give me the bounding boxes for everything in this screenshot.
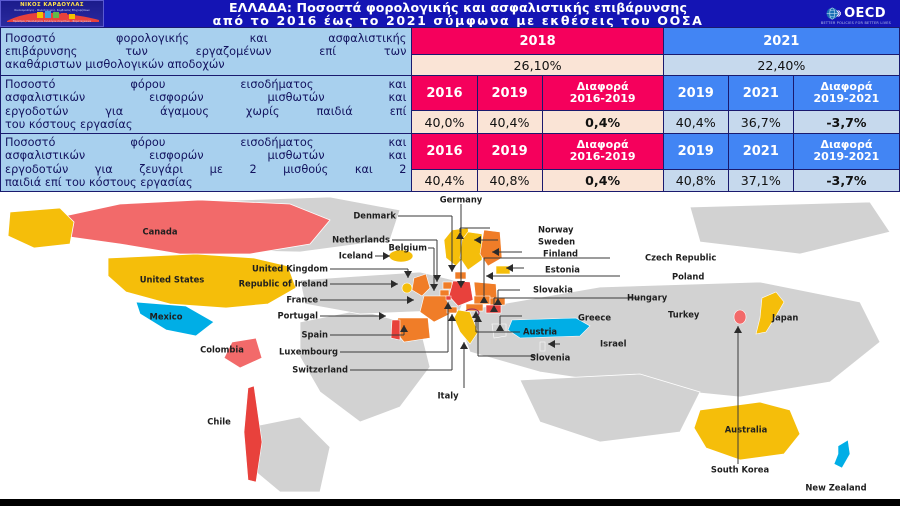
row2-label-cell: Ποσοστό φόρου εισοδήματος και ασφαλιστικ… bbox=[1, 76, 412, 134]
row3-value-2021: 37,1% bbox=[728, 169, 793, 192]
country-israel bbox=[540, 342, 545, 351]
map-label-hungary: Hungary bbox=[627, 294, 667, 303]
row1-label-cell: Ποσοστό φορολογικής και ασφαλιστικής επι… bbox=[1, 28, 412, 76]
row2-label-line-1: Ποσοστό φόρου εισοδήματος και bbox=[5, 78, 406, 91]
row2-header-2021: 2021 bbox=[728, 76, 793, 111]
row3-diff-right-line2: 2019-2021 bbox=[794, 151, 899, 163]
row2-value-diff-2016-2019: 0,4% bbox=[542, 111, 663, 134]
country-netherlands bbox=[443, 282, 452, 289]
row3-header-diff-2019-2021: Διαφορά 2019-2021 bbox=[793, 134, 899, 169]
value-2018-employee-burden: 26,10% bbox=[412, 55, 663, 76]
title-bar: ΝΙΚΟΣ ΚΑΡΔΟΥΛΑΣ Οικονομολόγος - Φοροτεχν… bbox=[0, 0, 900, 27]
table-row: Ποσοστό φορολογικής και ασφαλιστικής επι… bbox=[1, 28, 900, 55]
row2-value-2019: 40,4% bbox=[477, 111, 542, 134]
map-label-luxembourg: Luxembourg bbox=[279, 348, 338, 357]
presenter-logo-subtitle-2: Πρόεδρος Πανελληνίου Συλλόγου Λογιστών -… bbox=[1, 20, 103, 23]
row2-header-diff-2019-2021: Διαφορά 2019-2021 bbox=[793, 76, 899, 111]
row3-label-cell: Ποσοστό φόρου εισοδήματος και ασφαλιστικ… bbox=[1, 134, 412, 192]
map-label-colombia: Colombia bbox=[200, 346, 244, 355]
country-canada bbox=[60, 200, 330, 254]
row2-label-line-3: εργοδοτών για άγαμους χωρίς παιδιά επί bbox=[5, 105, 406, 118]
map-label-new-zealand: New Zealand bbox=[805, 484, 866, 493]
map-label-poland: Poland bbox=[672, 273, 704, 282]
row2-value-2021: 36,7% bbox=[728, 111, 793, 134]
table-row: Ποσοστό φόρου εισοδήματος και ασφαλιστικ… bbox=[1, 76, 900, 111]
row3-header-2019: 2019 bbox=[477, 134, 542, 169]
country-alaska bbox=[8, 208, 74, 248]
row1-label-line-3: ακαθάριστων μισθολογικών αποδοχών bbox=[5, 58, 406, 71]
bottom-letterbox bbox=[0, 499, 900, 506]
value-2021-employee-burden: 22,40% bbox=[663, 55, 899, 76]
country-luxembourg bbox=[446, 296, 451, 300]
map-label-belgium: Belgium bbox=[389, 244, 428, 253]
row3-value-diff-2016-2019: 0,4% bbox=[542, 169, 663, 192]
row3-label-line-1: Ποσοστό φόρου εισοδήματος και bbox=[5, 136, 406, 149]
row3-header-2016: 2016 bbox=[412, 134, 477, 169]
map-label-chile: Chile bbox=[207, 418, 231, 427]
presenter-logo: ΝΙΚΟΣ ΚΑΡΔΟΥΛΑΣ Οικονομολόγος - Φοροτεχν… bbox=[0, 0, 104, 27]
map-label-estonia: Estonia bbox=[545, 266, 580, 275]
map-label-norway: Norway bbox=[538, 226, 573, 235]
slide-root: ΝΙΚΟΣ ΚΑΡΔΟΥΛΑΣ Οικονομολόγος - Φοροτεχν… bbox=[0, 0, 900, 506]
tax-burden-table: Ποσοστό φορολογικής και ασφαλιστικής επι… bbox=[0, 27, 900, 192]
world-map: Germany Denmark Netherlands Belgium Icel… bbox=[0, 192, 900, 499]
header-2021: 2021 bbox=[663, 28, 899, 55]
row2-header-diff-2016-2019: Διαφορά 2016-2019 bbox=[542, 76, 663, 111]
row3-value-2019: 40,8% bbox=[477, 169, 542, 192]
country-republic-of-ireland bbox=[402, 283, 412, 293]
row2-diff-right-line2: 2019-2021 bbox=[794, 93, 899, 105]
row1-label-line-1: Ποσοστό φορολογικής και ασφαλιστικής bbox=[5, 32, 406, 45]
row2-label-line-4: του κόστους εργασίας bbox=[5, 118, 406, 131]
title-line-1: ΕΛΛΑΔΑ: Ποσοστά φορολογικής και ασφαλιστ… bbox=[108, 1, 808, 14]
map-label-finland: Finland bbox=[543, 250, 578, 259]
globe-icon bbox=[826, 6, 841, 21]
map-label-australia: Australia bbox=[725, 426, 768, 435]
country-belgium bbox=[440, 290, 449, 296]
map-label-switzerland: Switzerland bbox=[292, 366, 348, 375]
map-label-greece: Greece bbox=[578, 314, 611, 323]
map-label-germany: Germany bbox=[440, 196, 482, 205]
map-label-israel: Israel bbox=[600, 340, 626, 349]
map-label-czech-republic: Czech Republic bbox=[645, 254, 716, 263]
row2-value-2016: 40,0% bbox=[412, 111, 477, 134]
map-label-italy: Italy bbox=[437, 392, 458, 401]
table-row: Ποσοστό φόρου εισοδήματος και ασφαλιστικ… bbox=[1, 134, 900, 169]
row3-diff-left-line2: 2016-2019 bbox=[543, 151, 663, 163]
map-label-sweden: Sweden bbox=[538, 238, 575, 247]
country-south-korea bbox=[734, 310, 746, 324]
row2-label-line-2: ασφαλιστικών εισφορών μισθωτών και bbox=[5, 91, 406, 104]
row3-value-2016: 40,4% bbox=[412, 169, 477, 192]
map-label-slovakia: Slovakia bbox=[533, 286, 573, 295]
row3-header-2019b: 2019 bbox=[663, 134, 728, 169]
row3-header-2021: 2021 bbox=[728, 134, 793, 169]
map-label-japan: Japan bbox=[772, 314, 798, 323]
row2-value-diff-2019-2021: -3,7% bbox=[793, 111, 899, 134]
oecd-logo-tagline: BETTER POLICIES FOR BETTER LIVES bbox=[812, 21, 900, 25]
title-line-2: από το 2016 έως το 2021 σύμφωνα με εκθέσ… bbox=[108, 14, 808, 27]
oecd-logo-text: OECD bbox=[844, 7, 886, 20]
oecd-logo: OECD BETTER POLICIES FOR BETTER LIVES bbox=[812, 0, 900, 27]
presenter-logo-name: ΝΙΚΟΣ ΚΑΡΔΟΥΛΑΣ bbox=[1, 2, 103, 8]
map-label-united-states: United States bbox=[140, 276, 205, 285]
map-label-iceland: Iceland bbox=[339, 252, 373, 261]
country-new-zealand bbox=[834, 440, 850, 468]
country-portugal bbox=[391, 320, 400, 340]
map-label-mexico: Mexico bbox=[149, 313, 182, 322]
map-label-portugal: Portugal bbox=[277, 312, 318, 321]
map-label-denmark: Denmark bbox=[353, 212, 396, 221]
map-label-south-korea: South Korea bbox=[711, 466, 769, 475]
row2-header-2016: 2016 bbox=[412, 76, 477, 111]
row1-label-line-2: επιβάρυνσης των εργαζομένων επί των bbox=[5, 45, 406, 58]
row3-label-line-4: παιδιά επί του κόστους εργασίας bbox=[5, 176, 406, 189]
map-label-united-kingdom: United Kingdom bbox=[252, 265, 328, 274]
row2-diff-left-line2: 2016-2019 bbox=[543, 93, 663, 105]
map-label-netherlands: Netherlands bbox=[332, 236, 390, 245]
row3-value-2019b: 40,8% bbox=[663, 169, 728, 192]
map-label-republic-of-ireland: Republic of Ireland bbox=[239, 280, 328, 289]
map-label-turkey: Turkey bbox=[668, 311, 699, 320]
row2-header-2019b: 2019 bbox=[663, 76, 728, 111]
map-label-spain: Spain bbox=[301, 331, 328, 340]
map-label-slovenia: Slovenia bbox=[530, 354, 570, 363]
row2-value-2019b: 40,4% bbox=[663, 111, 728, 134]
world-map-graphic bbox=[0, 192, 900, 499]
row3-label-line-2: ασφαλιστικών εισφορών μισθωτών και bbox=[5, 149, 406, 162]
map-label-france: France bbox=[286, 296, 318, 305]
map-label-austria: Austria bbox=[523, 328, 557, 337]
country-finland bbox=[480, 230, 502, 266]
row3-header-diff-2016-2019: Διαφορά 2016-2019 bbox=[542, 134, 663, 169]
row3-label-line-3: εργοδοτών για ζευγάρι με 2 μισθούς και 2 bbox=[5, 163, 406, 176]
row3-value-diff-2019-2021: -3,7% bbox=[793, 169, 899, 192]
map-label-canada: Canada bbox=[142, 228, 177, 237]
header-2018: 2018 bbox=[412, 28, 663, 55]
row2-header-2019: 2019 bbox=[477, 76, 542, 111]
page-title: ΕΛΛΑΔΑ: Ποσοστά φορολογικής και ασφαλιστ… bbox=[104, 1, 812, 27]
